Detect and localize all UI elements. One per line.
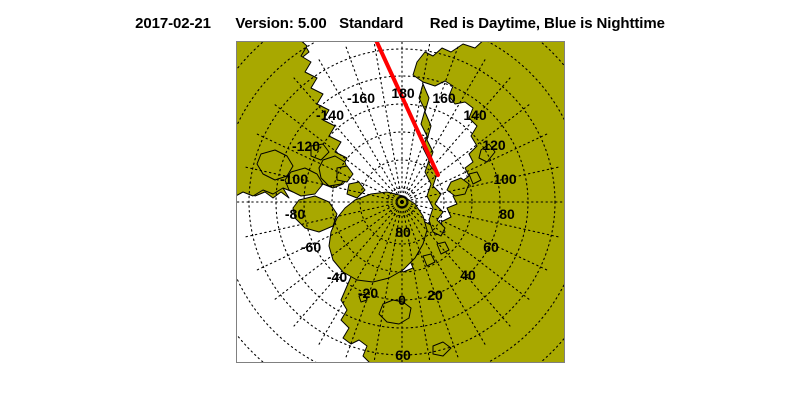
screenshot-root: 2017-02-21 Version: 5.00 Standard Red is… [0,0,800,400]
lon-label--140: -140 [316,108,344,122]
lat-label-60: 60 [395,348,411,362]
lon-label-0: 0 [398,293,406,307]
title-date: 2017-02-21 [135,15,211,32]
title-version: Version: 5.00 [235,15,326,32]
lon-label--120: -120 [292,139,320,153]
lon-label-60: 60 [483,240,499,254]
title-product-mode: Standard [339,15,403,32]
lon-label--20: -20 [358,286,378,300]
lon-label-80: 80 [499,207,515,221]
lon-label--40: -40 [327,270,347,284]
title-color-legend: Red is Daytime, Blue is Nighttime [430,15,665,32]
lon-label-120: 120 [482,138,505,152]
lon-label-160: 160 [432,91,455,105]
lon-label-140: 140 [463,108,486,122]
lon-label--60: -60 [301,240,321,254]
polar-map-panel[interactable]: -160 180 160 140 120 100 80 60 40 20 0 -… [236,41,565,363]
map-title-bar: 2017-02-21 Version: 5.00 Standard Red is… [0,15,800,37]
lat-label-80: 80 [395,225,411,239]
lon-label--160: -160 [347,91,375,105]
lon-label-20: 20 [427,288,443,302]
lon-label-180: 180 [391,86,414,100]
lon-label--100: -100 [280,172,308,186]
lon-label-40: 40 [460,268,476,282]
lon-label--80: -80 [285,207,305,221]
lon-label-100: 100 [493,172,516,186]
